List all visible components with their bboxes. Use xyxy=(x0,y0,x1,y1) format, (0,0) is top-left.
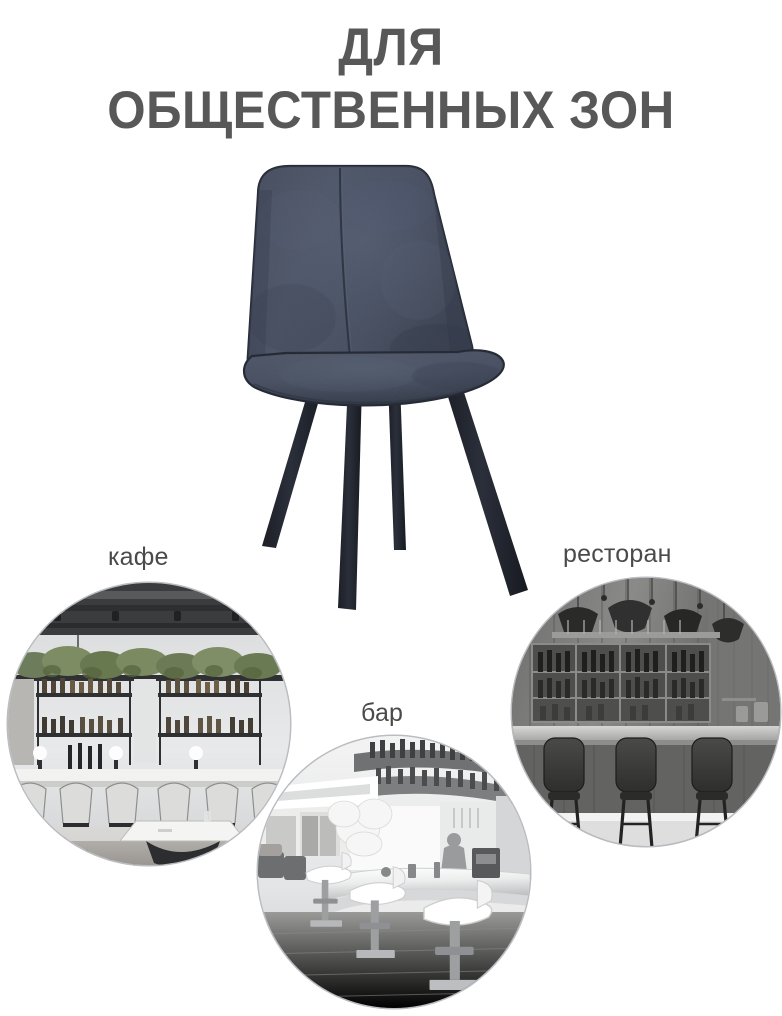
medallion-label-cafe: кафе xyxy=(108,543,169,572)
medallion-label-bar: бар xyxy=(361,699,403,728)
page-title: ДЛЯ ОБЩЕСТВЕННЫХ ЗОН xyxy=(0,18,782,141)
medallion-bar xyxy=(258,736,530,1008)
medallion-cafe xyxy=(8,583,290,865)
chair-legs xyxy=(262,372,528,610)
medallion-restoran xyxy=(512,578,780,846)
page-title-line-1: ДЛЯ xyxy=(31,18,750,77)
page-title-line-2: ОБЩЕСТВЕННЫХ ЗОН xyxy=(27,81,754,140)
medallion-label-restoran: ресторан xyxy=(563,540,672,569)
infographic-canvas: ДЛЯ ОБЩЕСТВЕННЫХ ЗОН xyxy=(0,0,782,1016)
product-chair-image xyxy=(228,150,548,620)
